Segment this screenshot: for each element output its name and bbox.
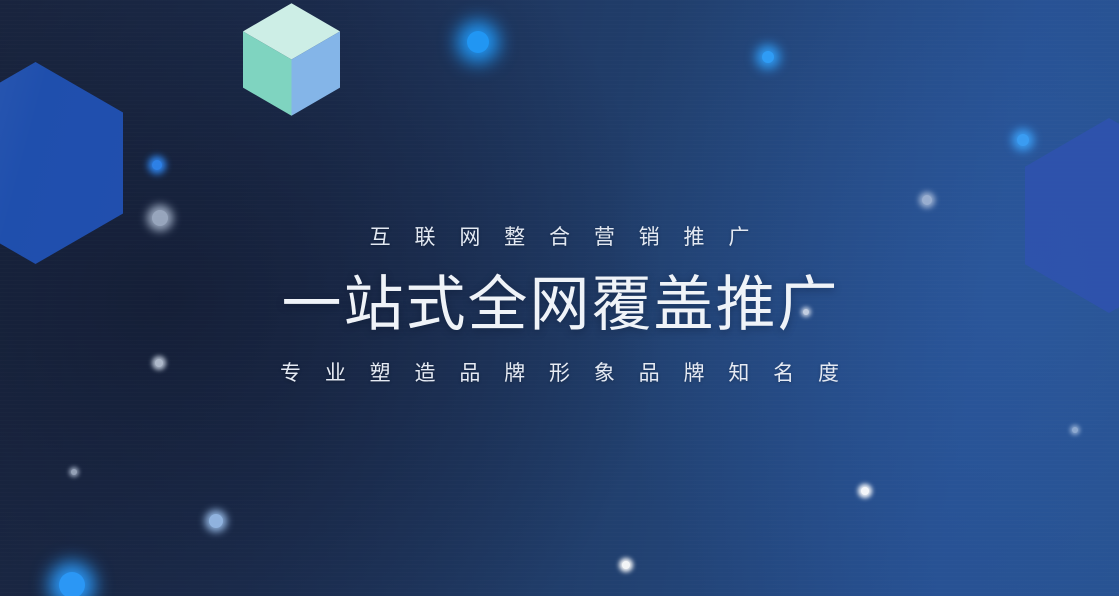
particle-dot bbox=[1072, 427, 1078, 433]
banner-subline: 专 业 塑 造 品 牌 形 象 品 牌 知 名 度 bbox=[0, 360, 1119, 387]
particle-dot bbox=[209, 514, 223, 528]
particle-dot bbox=[622, 561, 630, 569]
particle-dot bbox=[71, 469, 77, 475]
particle-dot bbox=[1017, 134, 1029, 146]
banner-eyebrow: 互 联 网 整 合 营 销 推 广 bbox=[0, 224, 1119, 251]
particle-dot bbox=[861, 487, 869, 495]
promo-banner: 互 联 网 整 合 营 销 推 广 一站式全网覆盖推广 专 业 塑 造 品 牌 … bbox=[0, 0, 1119, 596]
banner-headline: 一站式全网覆盖推广 bbox=[0, 271, 1119, 338]
banner-copy: 互 联 网 整 合 营 销 推 广 一站式全网覆盖推广 专 业 塑 造 品 牌 … bbox=[0, 224, 1119, 388]
particle-dot bbox=[467, 31, 489, 53]
cube-logo-icon bbox=[243, 3, 340, 116]
particle-dot bbox=[922, 195, 932, 205]
particle-dot bbox=[59, 572, 85, 596]
particle-dot bbox=[152, 160, 162, 170]
particle-dot bbox=[762, 51, 774, 63]
